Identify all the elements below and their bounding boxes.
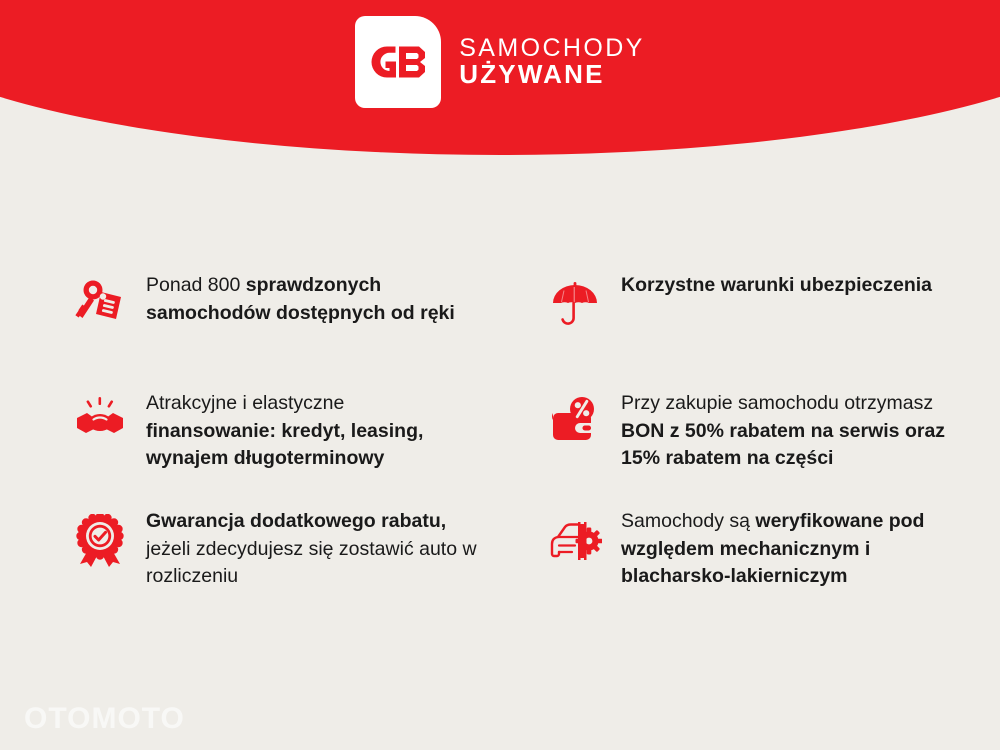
otomoto-watermark: OTOMOTO — [24, 702, 185, 736]
features-grid: Ponad 800 sprawdzonych samochodów dostęp… — [0, 268, 1000, 622]
feature-text: Gwarancja dodatkowego rabatu,jeżeli zdec… — [146, 504, 496, 591]
umbrella-icon — [547, 268, 603, 328]
feature-item: Ponad 800 sprawdzonych samochodów dostęp… — [72, 268, 527, 386]
feature-item: Przy zakupie samochodu otrzymasz BON z 5… — [547, 386, 1000, 504]
feature-text: Ponad 800 sprawdzonych samochodów dostęp… — [146, 268, 496, 327]
handshake-icon — [72, 386, 128, 446]
feature-text: Atrakcyjne i elastycznefinansowanie: kre… — [146, 386, 496, 473]
brand-wordmark: SAMOCHODY UŻYWANE — [459, 35, 645, 88]
brand-line-1: SAMOCHODY — [459, 35, 645, 61]
feature-item: Korzystne warunki ubezpieczenia — [547, 268, 1000, 386]
feature-item: Atrakcyjne i elastycznefinansowanie: kre… — [72, 386, 527, 504]
gb-logo-icon — [367, 42, 429, 82]
header-band: SAMOCHODY UŻYWANE — [0, 0, 1000, 155]
feature-item: Samochody są weryfikowane pod względem m… — [547, 504, 1000, 622]
feature-text: Korzystne warunki ubezpieczenia — [621, 268, 932, 300]
brand-line-2: UŻYWANE — [459, 61, 645, 88]
award-badge-icon — [72, 504, 128, 568]
feature-item: Gwarancja dodatkowego rabatu,jeżeli zdec… — [72, 504, 527, 622]
header-content: SAMOCHODY UŻYWANE — [0, 0, 1000, 155]
gb-logo-mark — [355, 16, 441, 108]
car-wrench-gear-icon — [547, 504, 603, 564]
feature-text: Przy zakupie samochodu otrzymasz BON z 5… — [621, 386, 981, 473]
feature-text: Samochody są weryfikowane pod względem m… — [621, 504, 981, 591]
wallet-percent-icon — [547, 386, 603, 446]
car-key-tag-icon — [72, 268, 128, 328]
